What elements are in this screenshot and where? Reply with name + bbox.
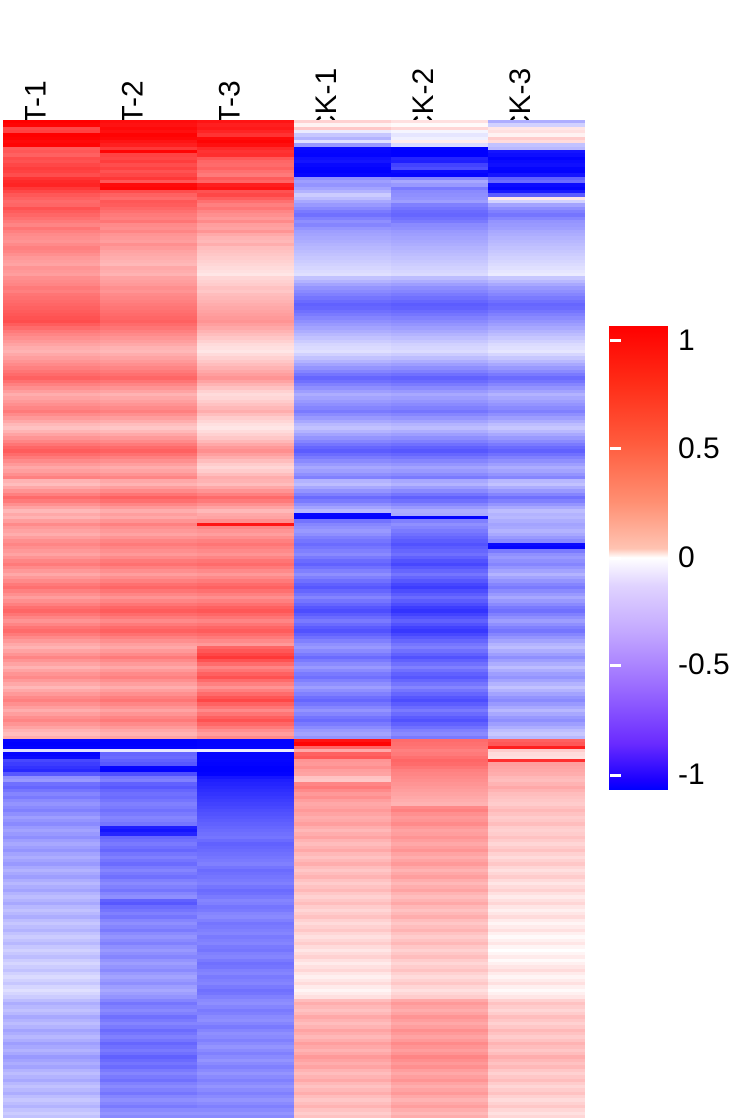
colorbar-tick-mark bbox=[610, 664, 621, 667]
colorbar-tick-mark bbox=[610, 774, 621, 777]
column-label-ck-1: CK-1 bbox=[294, 70, 391, 104]
colorbar-tick-mark bbox=[729, 339, 740, 342]
colorbar-tick-label: -0.5 bbox=[678, 650, 730, 680]
colorbar-tick-mark bbox=[729, 774, 740, 777]
colorbar-tick-mark bbox=[729, 447, 740, 450]
column-label-t-1: T-1 bbox=[3, 70, 100, 104]
column-label-t-3: T-3 bbox=[197, 70, 294, 104]
column-label-row: T-1T-2T-3CK-1CK-2CK-3 bbox=[3, 0, 585, 120]
colorbar-tick-mark bbox=[610, 339, 621, 342]
column-label-text: T-2 bbox=[118, 80, 148, 123]
colorbar-tick-mark bbox=[610, 557, 621, 560]
colorbar-tick-mark bbox=[729, 557, 740, 560]
colorbar-tick-mark bbox=[610, 447, 621, 450]
column-label-text: T-1 bbox=[21, 80, 51, 123]
column-label-t-2: T-2 bbox=[100, 70, 197, 104]
colorbar-tick-mark bbox=[729, 664, 740, 667]
colorbar-legend: 10.50-0.5-1 bbox=[609, 326, 741, 790]
heatmap-figure: T-1T-2T-3CK-1CK-2CK-3 10.50-0.5-1 bbox=[0, 0, 750, 1118]
colorbar-tick-label: 0 bbox=[678, 543, 695, 573]
colorbar-tick-label: -1 bbox=[678, 760, 705, 790]
heatmap-grid[interactable] bbox=[3, 120, 585, 1118]
column-label-text: T-3 bbox=[215, 80, 245, 123]
column-label-ck-2: CK-2 bbox=[391, 70, 488, 104]
colorbar-tick-label: 1 bbox=[678, 326, 695, 356]
column-label-ck-3: CK-3 bbox=[488, 70, 585, 104]
colorbar-tick-label: 0.5 bbox=[678, 434, 720, 464]
